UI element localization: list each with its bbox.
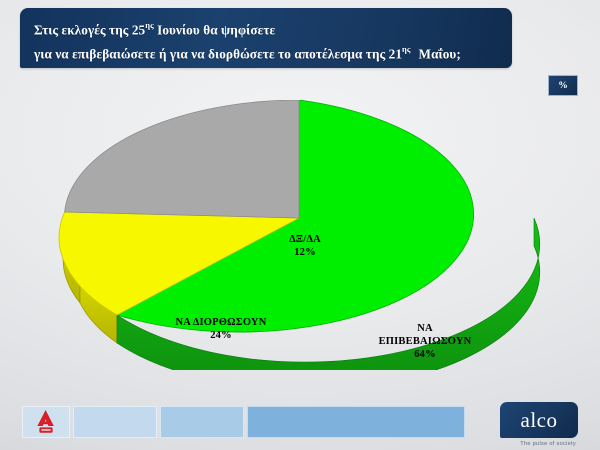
title-line-1: Στις εκλογές της 25ης Ιουνίου θα ψηφίσετ… <box>34 16 512 40</box>
title-line-2-text-a: για να επιβεβαιώσετε ή για να διορθώσετε… <box>34 47 402 62</box>
pie-label-green-value: 64% <box>355 348 495 361</box>
pie-label-yellow-line1: ΝΑ ΔΙΟΡΘΩΣΟΥΝ <box>176 317 267 328</box>
title-line-1-text-a: Στις εκλογές της 25 <box>34 22 145 37</box>
pie-label-gray-value: 12% <box>251 246 359 259</box>
footer-segment-3 <box>247 406 465 438</box>
title-line-1-superscript: ης <box>145 21 154 30</box>
alco-logo-tagline: The pulse of society <box>520 441 576 447</box>
pie-label-yellow-value: 24% <box>147 329 295 342</box>
alco-logo-wordmark: alco <box>521 410 558 431</box>
alco-logo: alco <box>500 402 578 438</box>
percent-unit-badge: % <box>548 75 578 96</box>
footer-strip: alco The pulse of society <box>22 406 578 438</box>
footer-segment-2 <box>160 406 244 438</box>
slide-footer: alco The pulse of society <box>0 398 600 450</box>
slide-canvas: Στις εκλογές της 25ης Ιουνίου θα ψηφίσετ… <box>0 0 600 450</box>
percent-unit-label: % <box>558 81 568 91</box>
alpha-tv-logo-icon <box>31 409 61 435</box>
title-line-2-text-b: Μαΐου; <box>419 47 461 62</box>
title-line-2-superscript: ης <box>402 45 411 54</box>
pie-label-gray: ΔΞ/ΔΑ 12% <box>251 233 359 259</box>
footer-segment-1 <box>73 406 157 438</box>
pie-label-green-line1: ΝΑ <box>417 323 433 334</box>
pie-label-green-line2: ΕΠΙΒΕΒΑΙΩΣΟΥΝ <box>379 336 472 347</box>
title-line-2: για να επιβεβαιώσετε ή για να διορθώσετε… <box>34 40 512 64</box>
pie-label-green: ΝΑ ΕΠΙΒΕΒΑΙΩΣΟΥΝ 64% <box>355 322 495 361</box>
slide-title-banner: Στις εκλογές της 25ης Ιουνίου θα ψηφίσετ… <box>20 8 512 68</box>
pie-slice-gray[interactable] <box>65 100 299 218</box>
pie-label-gray-line1: ΔΞ/ΔΑ <box>289 234 321 245</box>
title-line-1-text-b: Ιουνίου θα ψηφίσετε <box>154 22 276 37</box>
footer-segment-brand: alco The pulse of society <box>468 406 578 438</box>
pie-chart: ΝΑ ΕΠΙΒΕΒΑΙΩΣΟΥΝ 64% ΝΑ ΔΙΟΡΘΩΣΟΥΝ 24% Δ… <box>55 100 545 370</box>
pie-label-yellow: ΝΑ ΔΙΟΡΘΩΣΟΥΝ 24% <box>147 316 295 342</box>
footer-segment-logo <box>22 406 70 438</box>
